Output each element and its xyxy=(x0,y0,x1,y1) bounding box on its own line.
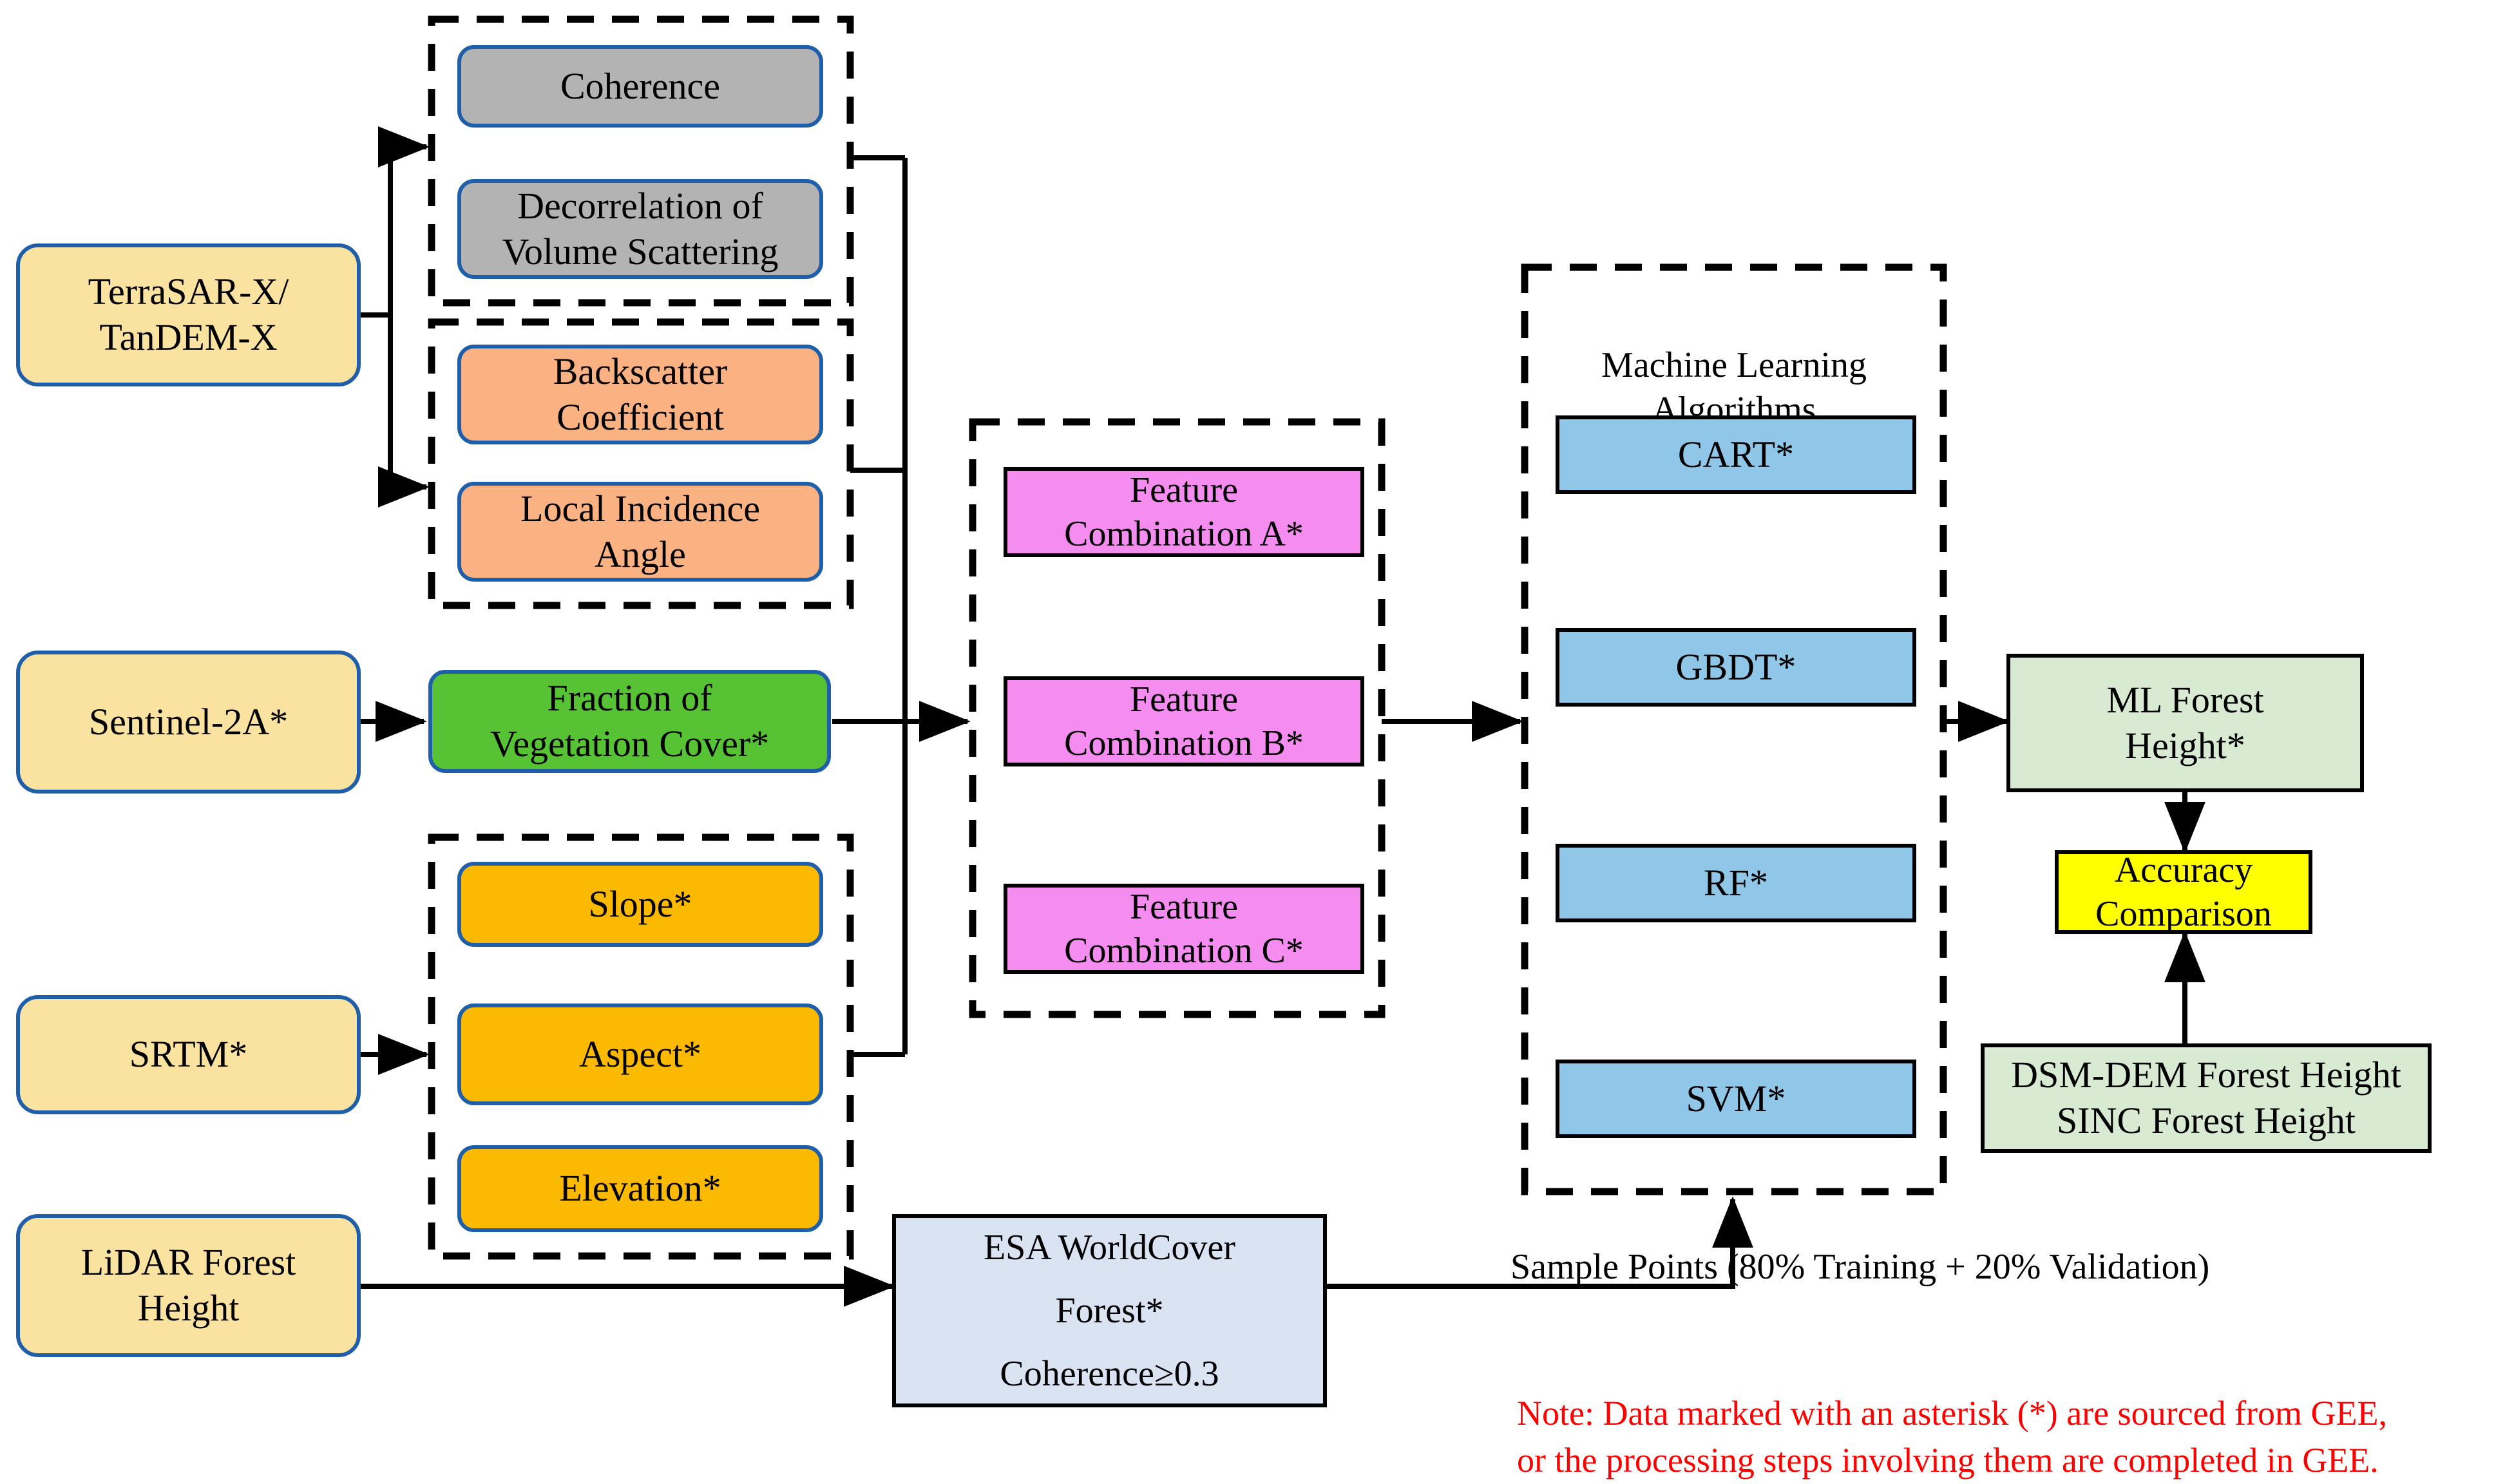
note-gee-asterisk: Note: Data marked with an asterisk (*) a… xyxy=(1517,1343,2496,1484)
feature-slope[interactable]: Slope* xyxy=(457,862,823,947)
feature-fraction-of-vegetation-cover[interactable]: Fraction of Vegetation Cover* xyxy=(428,670,831,773)
source-sentinel-label: Sentinel-2A* xyxy=(89,699,288,745)
algorithm-svm-label: SVM* xyxy=(1686,1076,1786,1122)
ml-algorithms-title: Machine Learning Algorithms xyxy=(1525,300,1943,432)
output-accuracy-comparison-label: Accuracy Comparison xyxy=(2095,848,2272,937)
source-terrasar-label: TerraSAR-X/ TanDEM-X xyxy=(88,269,289,361)
feature-fvc-label: Fraction of Vegetation Cover* xyxy=(490,676,769,767)
feature-combination-a[interactable]: Feature Combination A* xyxy=(1004,467,1364,557)
edge-terrasar-split xyxy=(361,147,390,487)
algorithm-rf-label: RF* xyxy=(1704,861,1768,906)
output-reference-forest-heights[interactable]: DSM-DEM Forest Height SINC Forest Height xyxy=(1981,1043,2432,1153)
algorithm-gbdt[interactable]: GBDT* xyxy=(1556,628,1916,707)
source-srtm[interactable]: SRTM* xyxy=(16,995,361,1114)
feature-combination-c[interactable]: Feature Combination C* xyxy=(1004,884,1364,974)
feature-coherence[interactable]: Coherence xyxy=(457,45,823,128)
source-srtm-label: SRTM* xyxy=(129,1032,247,1078)
feature-backscatter-coefficient[interactable]: Backscatter Coefficient xyxy=(457,345,823,444)
feature-elevation[interactable]: Elevation* xyxy=(457,1145,823,1232)
combination-b-label: Feature Combination B* xyxy=(1064,678,1304,766)
filter-esa-worldcover[interactable]: ESA WorldCover Forest* Coherence≥0.3 xyxy=(892,1214,1327,1407)
note-gee-asterisk-text: Note: Data marked with an asterisk (*) a… xyxy=(1517,1394,2387,1479)
feature-combination-b[interactable]: Feature Combination B* xyxy=(1004,676,1364,766)
combination-a-label: Feature Combination A* xyxy=(1064,468,1304,556)
feature-aspect-label: Aspect* xyxy=(579,1032,701,1078)
output-reference-forest-heights-label: DSM-DEM Forest Height SINC Forest Height xyxy=(2011,1052,2401,1144)
feature-elevation-label: Elevation* xyxy=(559,1166,721,1212)
feature-decorrelation-volume-scattering[interactable]: Decorrelation of Volume Scattering xyxy=(457,179,823,279)
output-ml-forest-height-label: ML Forest Height* xyxy=(2106,678,2263,769)
combination-c-label: Feature Combination C* xyxy=(1064,885,1304,973)
algorithm-cart[interactable]: CART* xyxy=(1556,415,1916,494)
output-ml-forest-height[interactable]: ML Forest Height* xyxy=(2006,654,2364,792)
feature-aspect[interactable]: Aspect* xyxy=(457,1004,823,1105)
flowchart-canvas: TerraSAR-X/ TanDEM-X Sentinel-2A* SRTM* … xyxy=(0,0,2505,1452)
algorithm-svm[interactable]: SVM* xyxy=(1556,1060,1916,1138)
source-lidar-forest-height[interactable]: LiDAR Forest Height xyxy=(16,1214,361,1357)
source-terrasar-tandem[interactable]: TerraSAR-X/ TanDEM-X xyxy=(16,243,361,386)
algorithm-gbdt-label: GBDT* xyxy=(1676,645,1796,690)
feature-coherence-label: Coherence xyxy=(560,64,720,109)
feature-local-incidence-angle[interactable]: Local Incidence Angle xyxy=(457,482,823,582)
filter-esa-worldcover-label: ESA WorldCover Forest* Coherence≥0.3 xyxy=(984,1216,1235,1405)
source-sentinel-2a[interactable]: Sentinel-2A* xyxy=(16,651,361,794)
algorithm-rf[interactable]: RF* xyxy=(1556,844,1916,922)
edge-label-sample-points: Sample Points (80% Training + 20% Valida… xyxy=(1510,1246,2209,1288)
edge-label-sample-points-text: Sample Points (80% Training + 20% Valida… xyxy=(1510,1247,2209,1287)
feature-incidence-label: Local Incidence Angle xyxy=(520,486,760,578)
feature-backscatter-label: Backscatter Coefficient xyxy=(553,349,728,441)
algorithm-cart-label: CART* xyxy=(1678,432,1794,478)
feature-slope-label: Slope* xyxy=(588,882,692,927)
feature-decorrelation-label: Decorrelation of Volume Scattering xyxy=(502,184,778,275)
source-lidar-label: LiDAR Forest Height xyxy=(81,1240,296,1331)
output-accuracy-comparison[interactable]: Accuracy Comparison xyxy=(2055,850,2312,934)
